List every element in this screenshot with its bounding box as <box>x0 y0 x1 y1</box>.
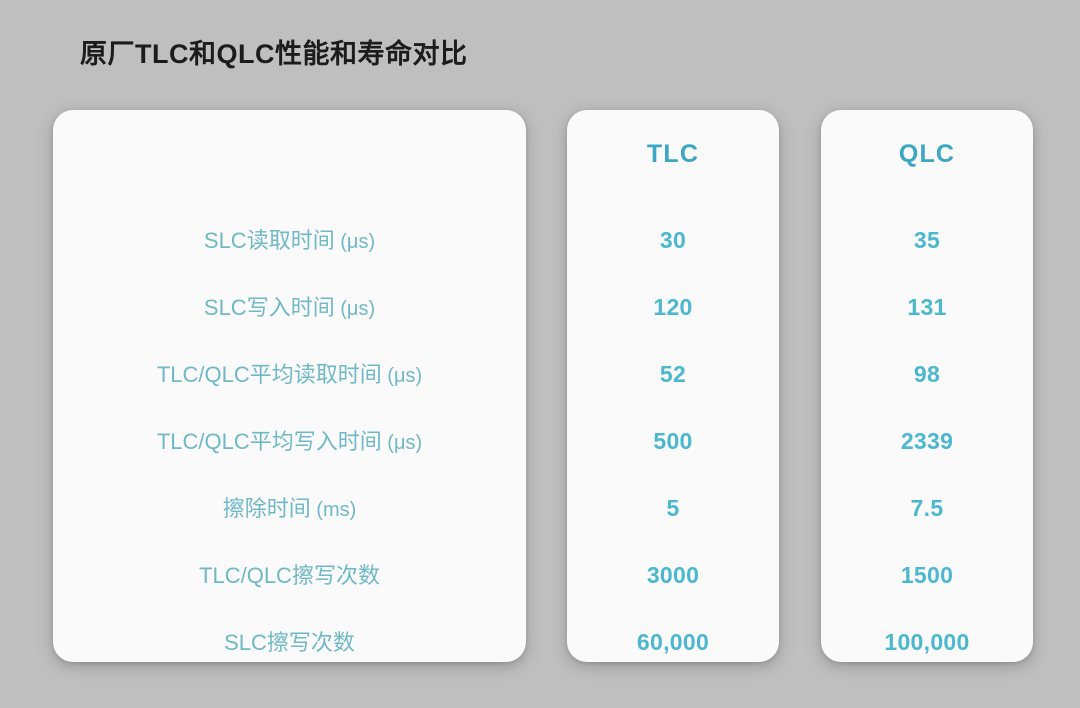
table-row: TLC/QLC平均读取时间 (μs) <box>53 341 526 408</box>
table-row: 131 <box>821 274 1033 341</box>
metric-label: TLC/QLC平均写入时间 (μs) <box>157 431 422 453</box>
table-row: 120 <box>567 274 779 341</box>
table-row: 52 <box>567 341 779 408</box>
tlc-column-header: TLC <box>567 140 779 169</box>
tlc-value: 52 <box>660 363 686 386</box>
table-row: 5 <box>567 475 779 542</box>
table-row: SLC写入时间 (μs) <box>53 274 526 341</box>
table-row: 7.5 <box>821 475 1033 542</box>
table-row: 100,000 <box>821 609 1033 676</box>
metric-label: SLC读取时间 (μs) <box>204 230 375 252</box>
qlc-value: 7.5 <box>911 497 944 520</box>
table-row: 30 <box>567 207 779 274</box>
qlc-column-card: QLC 351319823397.51500100,000 <box>821 110 1033 662</box>
tlc-value: 120 <box>653 296 692 319</box>
metric-label: TLC/QLC擦写次数 <box>199 565 380 587</box>
qlc-value: 2339 <box>901 430 953 453</box>
qlc-value: 131 <box>907 296 946 319</box>
table-row: SLC读取时间 (μs) <box>53 207 526 274</box>
metric-label: 擦除时间 (ms) <box>223 498 357 520</box>
table-row: 2339 <box>821 408 1033 475</box>
tlc-column-card: TLC 30120525005300060,000 <box>567 110 779 662</box>
comparison-infographic: 原厂TLC和QLC性能和寿命对比 SLC读取时间 (μs)SLC写入时间 (μs… <box>0 0 1080 708</box>
metric-label: SLC擦写次数 <box>224 632 355 654</box>
table-row: TLC/QLC擦写次数 <box>53 542 526 609</box>
tlc-value: 500 <box>653 430 692 453</box>
table-row: SLC擦写次数 <box>53 609 526 676</box>
table-row: 3000 <box>567 542 779 609</box>
qlc-value: 98 <box>914 363 940 386</box>
qlc-column-header: QLC <box>821 140 1033 169</box>
table-row: 60,000 <box>567 609 779 676</box>
qlc-value-list: 351319823397.51500100,000 <box>821 207 1033 676</box>
tlc-value: 30 <box>660 229 686 252</box>
tlc-value: 3000 <box>647 564 699 587</box>
metric-label: SLC写入时间 (μs) <box>204 297 375 319</box>
tlc-value: 60,000 <box>637 631 709 654</box>
qlc-value: 100,000 <box>884 631 969 654</box>
page-title: 原厂TLC和QLC性能和寿命对比 <box>80 38 467 70</box>
table-row: 1500 <box>821 542 1033 609</box>
metrics-label-list: SLC读取时间 (μs)SLC写入时间 (μs)TLC/QLC平均读取时间 (μ… <box>53 207 526 676</box>
table-row: TLC/QLC平均写入时间 (μs) <box>53 408 526 475</box>
qlc-value: 35 <box>914 229 940 252</box>
metrics-label-card: SLC读取时间 (μs)SLC写入时间 (μs)TLC/QLC平均读取时间 (μ… <box>53 110 526 662</box>
qlc-value: 1500 <box>901 564 953 587</box>
table-row: 擦除时间 (ms) <box>53 475 526 542</box>
metric-label: TLC/QLC平均读取时间 (μs) <box>157 364 422 386</box>
table-row: 35 <box>821 207 1033 274</box>
tlc-value: 5 <box>666 497 679 520</box>
table-row: 500 <box>567 408 779 475</box>
table-row: 98 <box>821 341 1033 408</box>
tlc-value-list: 30120525005300060,000 <box>567 207 779 676</box>
